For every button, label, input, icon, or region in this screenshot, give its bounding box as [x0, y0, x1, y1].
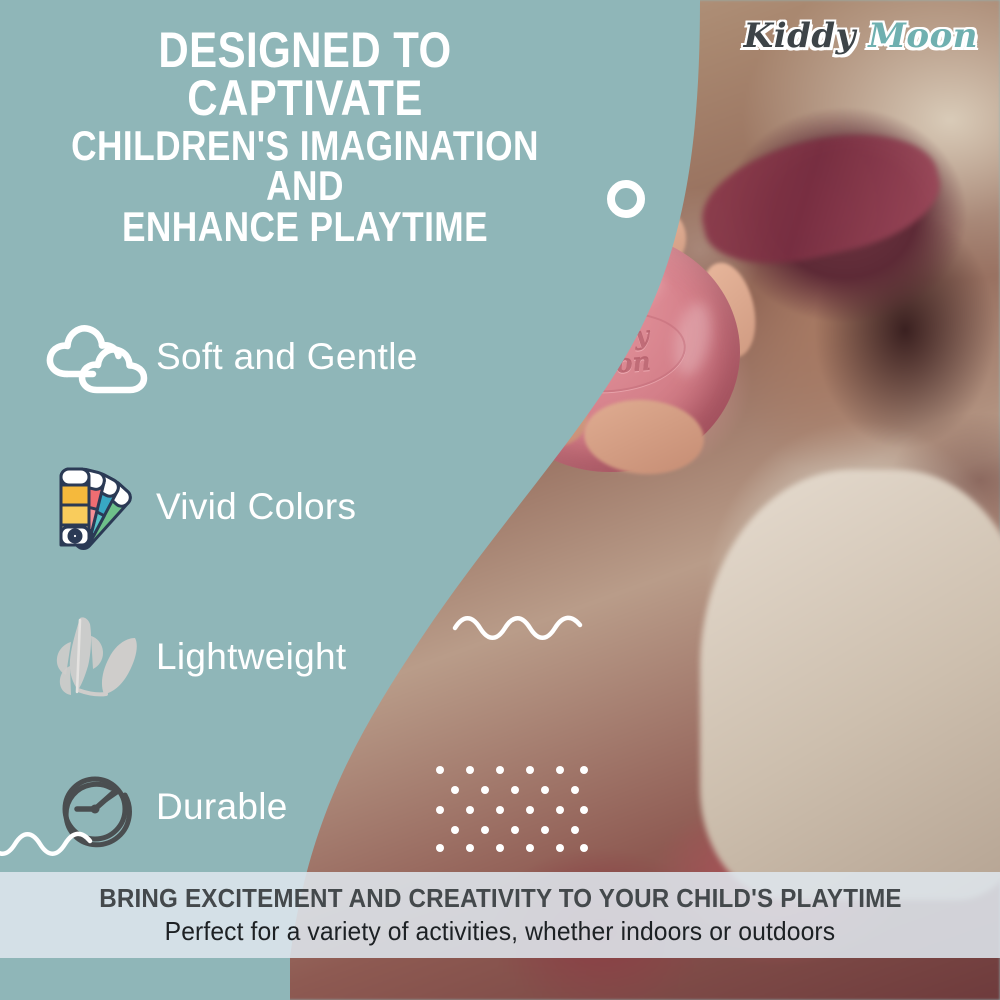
cloud-icon	[38, 309, 156, 405]
feature-label: Vivid Colors	[156, 486, 356, 528]
bottom-teal-strip	[0, 958, 290, 1000]
headline-line-3: ENHANCE PLAYTIME	[49, 207, 561, 247]
feature-item-durable: Durable	[38, 732, 498, 882]
dot-grid-decor-icon	[432, 762, 592, 859]
wavy-line-decor-icon	[0, 828, 96, 861]
brand-logo-kiddy: Kiddy	[744, 16, 856, 56]
product-banner-image: Kiddy Moon DESIGNED TO CAPTIVATE CHILDRE…	[0, 0, 1000, 1000]
feature-label: Durable	[156, 786, 288, 828]
banner-subtitle: Perfect for a variety of activities, whe…	[165, 916, 836, 947]
feature-item-vivid-colors: Vivid Colors	[38, 432, 498, 582]
headline-line-2: CHILDREN'S IMAGINATION AND	[49, 126, 561, 207]
page-title: DESIGNED TO CAPTIVATE CHILDREN'S IMAGINA…	[49, 26, 561, 247]
bottom-banner: BRING EXCITEMENT AND CREATIVITY TO YOUR …	[0, 872, 1000, 958]
banner-title: BRING EXCITEMENT AND CREATIVITY TO YOUR …	[99, 883, 902, 914]
brand-logo-moon: Moon	[868, 16, 978, 56]
feature-list: Soft and Gentle	[38, 282, 498, 882]
headline-line-1: DESIGNED TO CAPTIVATE	[49, 26, 561, 122]
brand-logo: Kiddy Moon	[744, 16, 978, 56]
child-sweater	[700, 470, 1000, 900]
color-swatch-fan-icon	[38, 459, 156, 555]
wavy-line-decor-icon	[452, 612, 586, 645]
feather-icon	[38, 609, 156, 705]
feature-label: Lightweight	[156, 636, 347, 678]
feature-item-soft-and-gentle: Soft and Gentle	[38, 282, 498, 432]
feature-item-lightweight: Lightweight	[38, 582, 498, 732]
circle-outline-decor-icon	[607, 180, 645, 218]
feature-label: Soft and Gentle	[156, 336, 418, 378]
